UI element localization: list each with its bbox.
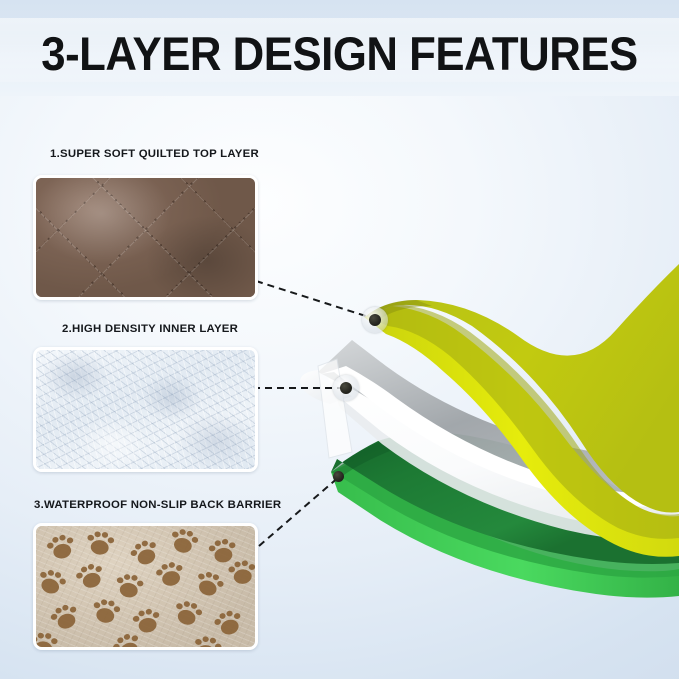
layer-marker-top [362, 307, 388, 333]
paw-print-backing-swatch [33, 523, 258, 650]
layer-marker-bottom [328, 466, 350, 488]
infographic-canvas: 3-LAYER DESIGN FEATURES [0, 0, 679, 679]
feature-label-2: 2.HIGH DENSITY INNER LAYER [62, 323, 238, 335]
marker-dot [340, 382, 352, 394]
fiber-clumps [36, 350, 255, 469]
feature-label-3: 3.WATERPROOF NON-SLIP BACK BARRIER [34, 499, 281, 511]
quilted-fabric-swatch [33, 175, 258, 300]
fiber-batting-swatch [33, 347, 258, 472]
paw-print-pattern [36, 526, 255, 650]
marker-dot [369, 314, 381, 326]
quilt-sheen [36, 178, 255, 297]
layer-marker-middle [333, 375, 359, 401]
marker-dot [333, 471, 344, 482]
feature-label-1: 1.SUPER SOFT QUILTED TOP LAYER [50, 148, 259, 160]
